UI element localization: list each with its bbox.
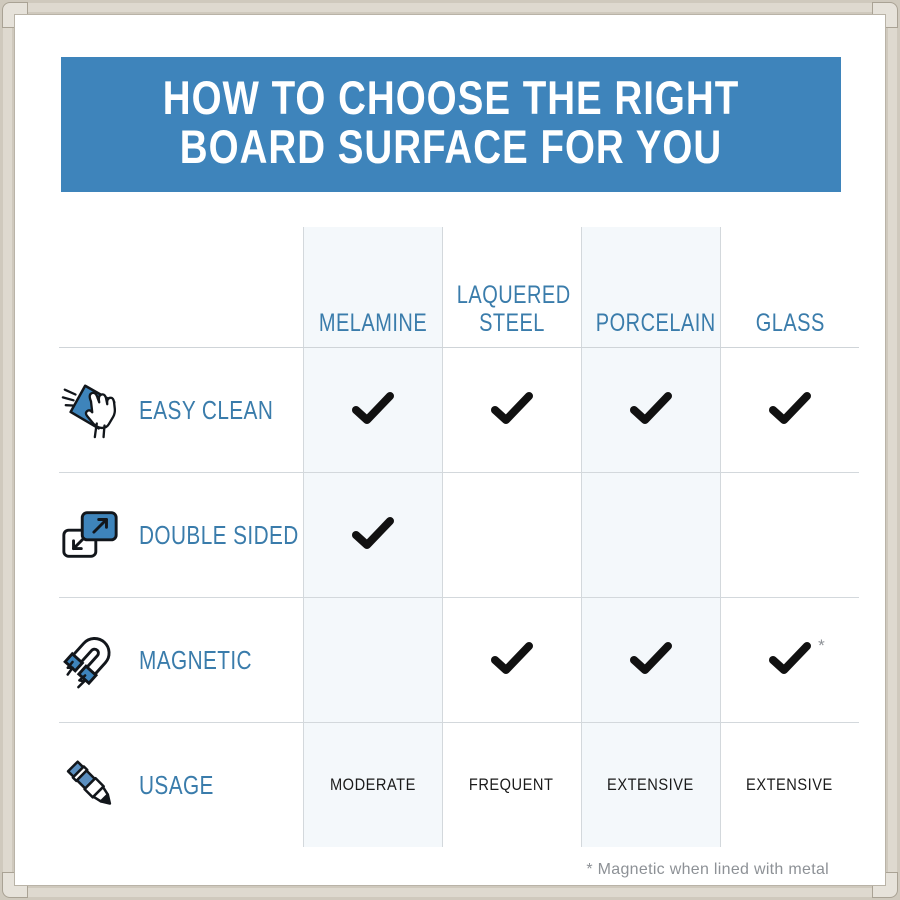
row-label-cell: EASY CLEAN — [59, 348, 303, 473]
cell-easy-clean-glass — [720, 348, 859, 473]
column-header-label: MELAMINE — [317, 309, 427, 337]
row-label-cell: DOUBLE SIDED — [59, 473, 303, 598]
check-icon — [628, 389, 674, 427]
frame-edge-bottom — [28, 888, 872, 897]
usage-value: MODERATE — [330, 775, 416, 795]
column-header-label: GLASS — [734, 309, 845, 337]
cell-magnetic-porcelain — [581, 598, 720, 723]
column-header-melamine: MELAMINE — [303, 227, 442, 348]
cell-magnetic-melamine — [303, 598, 442, 723]
column-header-glass: GLASS — [720, 227, 859, 348]
cell-double-sided-melamine — [303, 473, 442, 598]
whiteboard-surface: HOW TO CHOOSE THE RIGHT BOARD SURFACE FO… — [14, 14, 886, 886]
row-label-cell: MAGNETIC — [59, 598, 303, 723]
check-icon — [628, 639, 674, 677]
comparison-table-wrapper: MELAMINE LAQUERED STEEL PORCELAIN GLASS — [59, 227, 859, 847]
cell-double-sided-porcelain — [581, 473, 720, 598]
check-icon: * — [767, 639, 813, 677]
cell-magnetic-laquered-steel — [442, 598, 581, 723]
cell-usage-glass: EXTENSIVE — [720, 723, 859, 848]
usage-value: EXTENSIVE — [746, 775, 833, 795]
title-line-1: HOW TO CHOOSE THE RIGHT — [139, 73, 762, 122]
cell-easy-clean-laquered-steel — [442, 348, 581, 473]
cell-usage-porcelain: EXTENSIVE — [581, 723, 720, 848]
row-label-text: MAGNETIC — [139, 645, 252, 676]
header-empty-corner — [59, 227, 303, 348]
cell-usage-melamine: MODERATE — [303, 723, 442, 848]
table-header-row: MELAMINE LAQUERED STEEL PORCELAIN GLASS — [59, 227, 859, 348]
table-row-magnetic: MAGNETIC — [59, 598, 859, 723]
feature-double-sided: DOUBLE SIDED — [59, 504, 303, 566]
feature-usage: USAGE — [59, 754, 303, 816]
title-line-2: BOARD SURFACE FOR YOU — [139, 122, 762, 171]
feature-magnetic: MAGNETIC — [59, 629, 303, 691]
check-icon — [350, 389, 396, 427]
check-icon — [489, 639, 535, 677]
row-label-text: USAGE — [139, 770, 214, 801]
table-row-usage: USAGE MODERATE FREQUENT EXTENSIVE — [59, 723, 859, 848]
cell-usage-laquered-steel: FREQUENT — [442, 723, 581, 848]
cell-magnetic-glass: * — [720, 598, 859, 723]
title-banner: HOW TO CHOOSE THE RIGHT BOARD SURFACE FO… — [61, 57, 841, 192]
cell-easy-clean-porcelain — [581, 348, 720, 473]
row-label-cell: USAGE — [59, 723, 303, 848]
frame-edge-top — [28, 3, 872, 12]
column-header-porcelain: PORCELAIN — [581, 227, 720, 348]
horseshoe-magnet-icon — [59, 629, 121, 691]
marker-pen-icon — [59, 754, 121, 816]
check-icon — [489, 389, 535, 427]
row-label-text: EASY CLEAN — [139, 395, 273, 426]
check-icon — [350, 514, 396, 552]
usage-value: EXTENSIVE — [607, 775, 694, 795]
whiteboard-frame: HOW TO CHOOSE THE RIGHT BOARD SURFACE FO… — [0, 0, 900, 900]
comparison-table: MELAMINE LAQUERED STEEL PORCELAIN GLASS — [59, 227, 859, 847]
column-header-laquered-steel: LAQUERED STEEL — [442, 227, 581, 348]
cell-double-sided-laquered-steel — [442, 473, 581, 598]
feature-easy-clean: EASY CLEAN — [59, 379, 303, 441]
frame-edge-left — [3, 28, 12, 872]
table-row-easy-clean: EASY CLEAN — [59, 348, 859, 473]
column-header-label: PORCELAIN — [595, 309, 705, 337]
row-label-text: DOUBLE SIDED — [139, 520, 299, 551]
column-header-label: LAQUERED STEEL — [456, 281, 566, 337]
footnote-text: * Magnetic when lined with metal — [586, 861, 829, 879]
infographic-content: HOW TO CHOOSE THE RIGHT BOARD SURFACE FO… — [15, 15, 885, 885]
cell-easy-clean-melamine — [303, 348, 442, 473]
frame-edge-right — [888, 28, 897, 872]
table-row-double-sided: DOUBLE SIDED — [59, 473, 859, 598]
usage-value: FREQUENT — [469, 775, 554, 795]
two-sided-squares-icon — [59, 504, 121, 566]
footnote-asterisk-marker: * — [818, 637, 825, 654]
cell-double-sided-glass — [720, 473, 859, 598]
check-icon — [767, 389, 813, 427]
wipe-cloth-hand-icon — [59, 379, 121, 441]
